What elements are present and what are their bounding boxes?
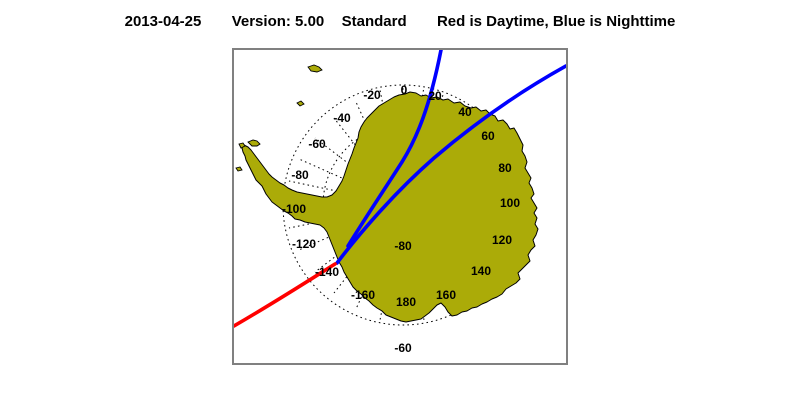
antarctica-landmass — [242, 92, 538, 322]
figure-title: 2013-04-25 Version: 5.00 Standard Red is… — [0, 13, 800, 30]
title-date: 2013-04-25 — [125, 13, 202, 30]
title-legend: Red is Daytime, Blue is Nighttime — [437, 13, 675, 30]
title-version: Version: 5.00 — [232, 13, 325, 30]
daytime-track — [234, 264, 335, 326]
title-mode: Standard — [342, 13, 407, 30]
island-small-c — [308, 65, 322, 72]
figure-canvas: 2013-04-25 Version: 5.00 Standard Red is… — [0, 0, 800, 400]
island-shetland-a — [248, 140, 260, 146]
island-small-d — [297, 101, 304, 106]
map-axes: -20 0 20 40 60 80 100 120 140 160 180 -1… — [232, 48, 568, 365]
polar-stereographic-map — [234, 50, 566, 363]
island-small-e — [236, 167, 242, 171]
